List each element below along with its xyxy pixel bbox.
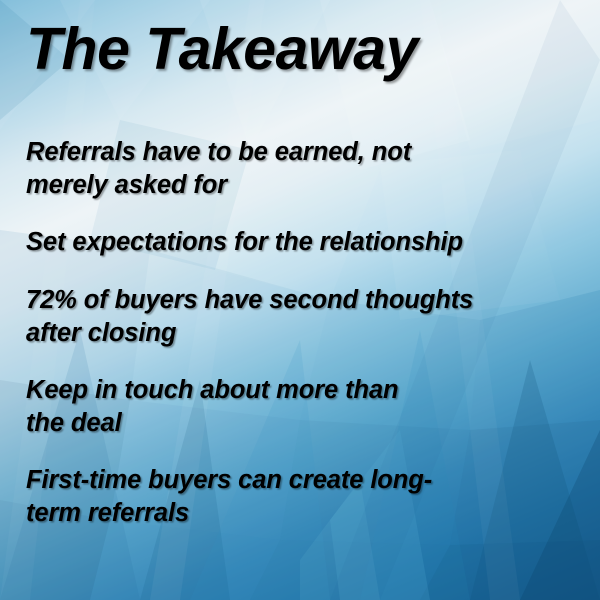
list-item-line: term referrals xyxy=(26,497,582,530)
list-item: Set expectations for the relationship xyxy=(26,226,582,259)
list-item-line: Set expectations for the relationship xyxy=(26,226,582,259)
list-item-line: First-time buyers can create long- xyxy=(26,464,582,497)
slide-content: The Takeaway Referrals have to be earned… xyxy=(0,0,600,600)
list-item-line: 72% of buyers have second thoughts xyxy=(26,284,582,317)
list-item-line: Keep in touch about more than xyxy=(26,374,582,407)
list-item-line: Referrals have to be earned, not xyxy=(26,136,582,169)
list-item: First-time buyers can create long- term … xyxy=(26,464,582,529)
list-item-line: merely asked for xyxy=(26,169,582,202)
takeaway-list: Referrals have to be earned, not merely … xyxy=(26,136,582,530)
list-item-line: after closing xyxy=(26,317,582,350)
page-title: The Takeaway xyxy=(26,18,418,81)
list-item: Keep in touch about more than the deal xyxy=(26,374,582,439)
list-item: Referrals have to be earned, not merely … xyxy=(26,136,582,201)
list-item-line: the deal xyxy=(26,407,582,440)
slide-canvas: The Takeaway Referrals have to be earned… xyxy=(0,0,600,600)
list-item: 72% of buyers have second thoughts after… xyxy=(26,284,582,349)
